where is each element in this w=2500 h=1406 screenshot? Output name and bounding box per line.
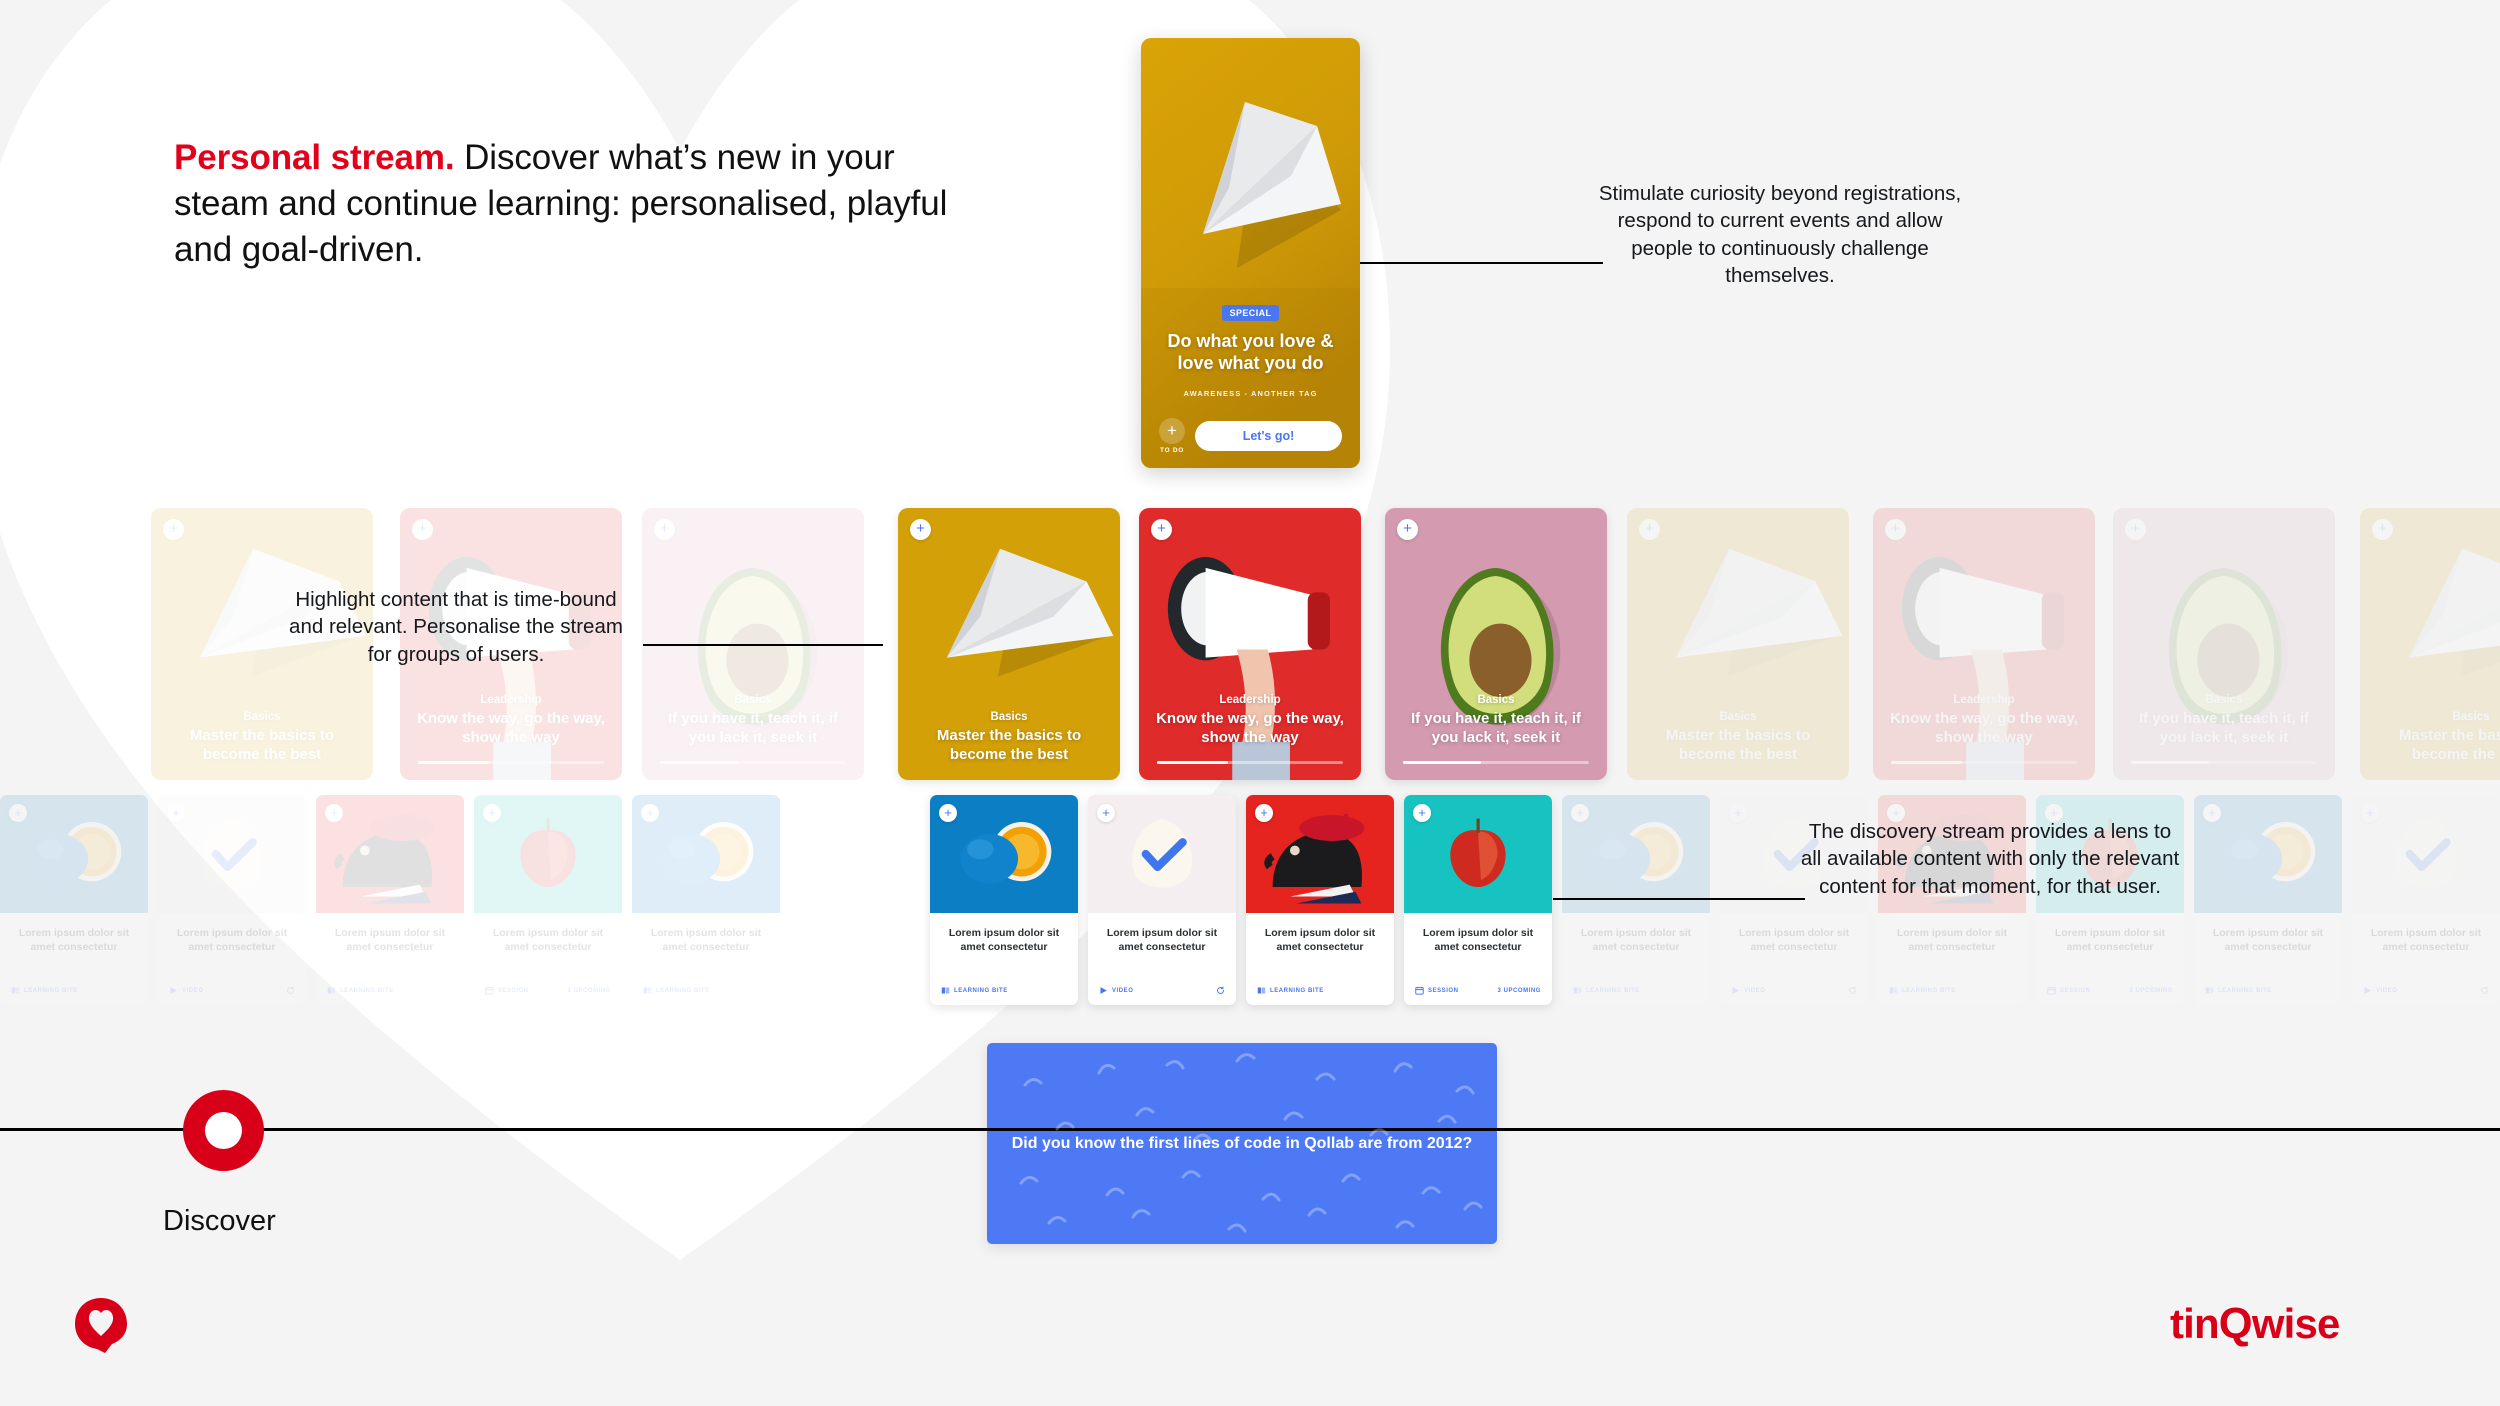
progress-bar [1891, 761, 2077, 764]
discovery-card-type-label: LEARNING BITE [2218, 988, 2272, 994]
book-icon [1573, 986, 1582, 995]
topic-card-category: Basics [2374, 711, 2500, 723]
add-plus-icon[interactable]: + [939, 804, 957, 822]
topic-card-title: If you have it, teach it, if you lack it… [1399, 710, 1593, 747]
discovery-card-type-label: LEARNING BITE [656, 988, 710, 994]
add-plus-icon[interactable]: + [1639, 519, 1660, 540]
discovery-card-title: Lorem ipsum dolor sit amet consectetur [643, 927, 769, 955]
topic-card[interactable]: + Leadership Know the way, go the way, s… [1873, 508, 2095, 780]
add-plus-icon[interactable]: + [1097, 804, 1115, 822]
book-icon [11, 986, 20, 995]
add-plus-icon[interactable]: + [2361, 804, 2379, 822]
discovery-card-type-label: SESSION [498, 988, 529, 994]
discovery-card-image: + [1404, 795, 1552, 913]
play-icon [1099, 986, 1108, 995]
topic-card-title: Know the way, go the way, show the way [1887, 710, 2081, 747]
todo-label: TO DO [1160, 447, 1184, 454]
discovery-card-type: LEARNING BITE [643, 986, 710, 995]
plus-icon[interactable]: + [1159, 418, 1185, 444]
discovery-card-title: Lorem ipsum dolor sit amet consectetur [1099, 927, 1225, 955]
discovery-card-title: Lorem ipsum dolor sit amet consectetur [1889, 927, 2015, 955]
topic-card-category: Basics [912, 711, 1106, 723]
discovery-card-type-label: VIDEO [2376, 988, 2397, 994]
lets-go-button[interactable]: Let's go! [1195, 421, 1342, 451]
leader-line-curiosity [1360, 262, 1603, 264]
discovery-card-type-label: LEARNING BITE [1902, 988, 1956, 994]
discovery-card-type: LEARNING BITE [941, 986, 1008, 995]
discovery-card[interactable]: + Lorem ipsum dolor sit amet consectetur… [2194, 795, 2342, 1005]
calendar-icon [2047, 986, 2056, 995]
discovery-card[interactable]: + Lorem ipsum dolor sit amet consectetur… [0, 795, 148, 1005]
book-icon [327, 986, 336, 995]
book-icon [2205, 986, 2214, 995]
discovery-card-extra: 3 UPCOMING [2129, 988, 2173, 994]
discovery-card-type: LEARNING BITE [1257, 986, 1324, 995]
progress-bar [660, 761, 846, 764]
annotation-highlight: Highlight content that is time-bound and… [276, 586, 636, 668]
discovery-card-type: SESSION [1415, 986, 1459, 995]
featured-card-artwork [1141, 38, 1360, 468]
add-plus-icon[interactable]: + [163, 519, 184, 540]
refresh-icon [1216, 986, 1225, 995]
featured-card-tags: AWARENESS - ANOTHER TAG [1155, 389, 1346, 398]
topic-card-category: Basics [1399, 694, 1593, 706]
play-icon [169, 986, 178, 995]
topic-card-title: If you have it, teach it, if you lack it… [2127, 710, 2321, 747]
discovery-card-image: + [2194, 795, 2342, 913]
topic-card-title: Master the basics to become the best [1641, 727, 1835, 764]
discovery-card-image: + [0, 795, 148, 913]
discovery-card-image: + [2352, 795, 2500, 913]
topic-card-category: Basics [1641, 711, 1835, 723]
add-plus-icon[interactable]: + [167, 804, 185, 822]
discovery-card[interactable]: + Lorem ipsum dolor sit amet consectetur… [1088, 795, 1236, 1005]
progress-bar [1157, 761, 1343, 764]
discovery-card-title: Lorem ipsum dolor sit amet consectetur [11, 927, 137, 955]
discovery-card-title: Lorem ipsum dolor sit amet consectetur [1573, 927, 1699, 955]
discovery-card-type-label: LEARNING BITE [954, 988, 1008, 994]
add-plus-icon[interactable]: + [412, 519, 433, 540]
add-plus-icon[interactable]: + [2125, 519, 2146, 540]
discovery-card-type: VIDEO [1099, 986, 1133, 995]
discovery-card-type: LEARNING BITE [1889, 986, 1956, 995]
add-plus-icon[interactable]: + [9, 804, 27, 822]
discovery-card-type: LEARNING BITE [2205, 986, 2272, 995]
topic-card[interactable]: + Basics Master the basics to become the… [1627, 508, 1849, 780]
add-plus-icon[interactable]: + [641, 804, 659, 822]
discovery-card-type: SESSION [2047, 986, 2091, 995]
progress-bar [418, 761, 604, 764]
add-plus-icon[interactable]: + [654, 519, 675, 540]
topic-card-category: Leadership [1887, 694, 2081, 706]
play-icon [2363, 986, 2372, 995]
progress-bar [2131, 761, 2317, 764]
add-plus-icon[interactable]: + [1397, 519, 1418, 540]
discovery-card-type-label: LEARNING BITE [1586, 988, 1640, 994]
book-icon [1889, 986, 1898, 995]
add-plus-icon[interactable]: + [1151, 519, 1172, 540]
discovery-card-title: Lorem ipsum dolor sit amet consectetur [1415, 927, 1541, 955]
topic-card[interactable]: + Basics If you have it, teach it, if yo… [1385, 508, 1607, 780]
discovery-card[interactable]: + Lorem ipsum dolor sit amet consectetur… [158, 795, 306, 1005]
discovery-card-type-label: SESSION [2060, 988, 2091, 994]
discovery-card-title: Lorem ipsum dolor sit amet consectetur [2047, 927, 2173, 955]
discovery-card-image: + [1088, 795, 1236, 913]
discovery-card-type-label: VIDEO [1744, 988, 1765, 994]
book-icon [643, 986, 652, 995]
topic-card-category: Leadership [1153, 694, 1347, 706]
discovery-card-title: Lorem ipsum dolor sit amet consectetur [1731, 927, 1857, 955]
discovery-card[interactable]: + Lorem ipsum dolor sit amet consectetur… [2352, 795, 2500, 1005]
tinqwise-logo: tinQwise [2170, 1300, 2412, 1350]
progress-bar [1403, 761, 1589, 764]
discovery-card-type: VIDEO [2363, 986, 2397, 995]
add-to-todo-control[interactable]: + TO DO [1159, 418, 1185, 454]
discovery-card[interactable]: + Lorem ipsum dolor sit amet consectetur… [1246, 795, 1394, 1005]
discovery-card-type: SESSION [485, 986, 529, 995]
topic-card-category: Leadership [414, 694, 608, 706]
leader-line-highlight [643, 644, 883, 646]
headline-highlight: Personal stream. [174, 138, 455, 177]
discovery-card-image: + [474, 795, 622, 913]
add-plus-icon[interactable]: + [910, 519, 931, 540]
topic-card[interactable]: + Basics Master the basics to become the… [2360, 508, 2500, 780]
topic-card-title: Master the basics to become the best [165, 727, 359, 764]
discovery-card-title: Lorem ipsum dolor sit amet consectetur [485, 927, 611, 955]
timeline-label-discover: Discover [163, 1205, 276, 1238]
discovery-card-image: + [158, 795, 306, 913]
discovery-card-title: Lorem ipsum dolor sit amet consectetur [941, 927, 1067, 955]
timeline-marker-discover[interactable] [183, 1090, 264, 1171]
play-icon [1731, 986, 1740, 995]
discovery-card-image: + [1246, 795, 1394, 913]
add-plus-icon[interactable]: + [483, 804, 501, 822]
book-icon [941, 986, 950, 995]
add-plus-icon[interactable]: + [1885, 519, 1906, 540]
add-plus-icon[interactable]: + [325, 804, 343, 822]
discovery-card-type-label: SESSION [1428, 988, 1459, 994]
refresh-icon [2480, 986, 2489, 995]
annotation-curiosity: Stimulate curiosity beyond registrations… [1590, 180, 1970, 289]
discovery-card-type: LEARNING BITE [1573, 986, 1640, 995]
discovery-card-title: Lorem ipsum dolor sit amet consectetur [169, 927, 295, 955]
discovery-card-title: Lorem ipsum dolor sit amet consectetur [1257, 927, 1383, 955]
calendar-icon [485, 986, 494, 995]
annotation-discovery: The discovery stream provides a lens to … [1800, 818, 2180, 900]
discovery-card-type-label: VIDEO [1112, 988, 1133, 994]
discovery-card-type-label: LEARNING BITE [24, 988, 78, 994]
leader-line-discovery [1553, 898, 1805, 900]
discovery-card[interactable]: + Lorem ipsum dolor sit amet consectetur… [474, 795, 622, 1005]
discovery-card-type-label: LEARNING BITE [1270, 988, 1324, 994]
discovery-card-extra: 3 UPCOMING [567, 988, 611, 994]
discovery-card-type: LEARNING BITE [327, 986, 394, 995]
discovery-card-image: + [930, 795, 1078, 913]
calendar-icon [1415, 986, 1424, 995]
add-plus-icon[interactable]: + [2203, 804, 2221, 822]
did-you-know-text: Did you know the first lines of code in … [1012, 1132, 1473, 1155]
topic-card[interactable]: + Leadership Know the way, go the way, s… [1139, 508, 1361, 780]
slide-canvas: Personal stream. Discover what’s new in … [0, 0, 2500, 1406]
topic-card-category: Basics [2127, 694, 2321, 706]
svg-text:tinQwise: tinQwise [2170, 1300, 2340, 1348]
topic-card[interactable]: + Basics If you have it, teach it, if yo… [2113, 508, 2335, 780]
discovery-card-title: Lorem ipsum dolor sit amet consectetur [327, 927, 453, 955]
discovery-card[interactable]: + Lorem ipsum dolor sit amet consectetur… [930, 795, 1078, 1005]
discovery-card[interactable]: + Lorem ipsum dolor sit amet consectetur… [1404, 795, 1552, 1005]
did-you-know-banner: Did you know the first lines of code in … [987, 1043, 1497, 1244]
discovery-card-type: LEARNING BITE [11, 986, 78, 995]
discovery-card-extra: 3 UPCOMING [1497, 988, 1541, 994]
topic-card-title: Master the basics to become the best [912, 727, 1106, 764]
featured-card[interactable]: SPECIAL Do what you love & love what you… [1141, 38, 1360, 468]
qollab-logo [72, 1296, 130, 1354]
discovery-card-type-label: VIDEO [182, 988, 203, 994]
featured-card-title: Do what you love & love what you do [1155, 330, 1346, 375]
discovery-card-type-label: LEARNING BITE [340, 988, 394, 994]
discovery-card-type: VIDEO [169, 986, 203, 995]
topic-card-title: Know the way, go the way, show the way [1153, 710, 1347, 747]
page-title: Personal stream. Discover what’s new in … [174, 135, 974, 273]
topic-card-title: If you have it, teach it, if you lack it… [656, 710, 850, 747]
discovery-card[interactable]: + Lorem ipsum dolor sit amet consectetur… [1562, 795, 1710, 1005]
discovery-card-title: Lorem ipsum dolor sit amet consectetur [2363, 927, 2489, 955]
book-icon [1257, 986, 1266, 995]
add-plus-icon[interactable]: + [1413, 804, 1431, 822]
topic-card-category: Basics [656, 694, 850, 706]
topic-card[interactable]: + Basics Master the basics to become the… [898, 508, 1120, 780]
discovery-card-type: VIDEO [1731, 986, 1765, 995]
discovery-card-image: + [632, 795, 780, 913]
add-plus-icon[interactable]: + [1571, 804, 1589, 822]
discovery-card-title: Lorem ipsum dolor sit amet consectetur [2205, 927, 2331, 955]
discovery-card-image: + [1562, 795, 1710, 913]
topic-card-title: Know the way, go the way, show the way [414, 710, 608, 747]
discovery-card[interactable]: + Lorem ipsum dolor sit amet consectetur… [316, 795, 464, 1005]
topic-card-title: Master the basics to become the best [2374, 727, 2500, 764]
topic-card-category: Basics [165, 711, 359, 723]
discovery-card-image: + [316, 795, 464, 913]
refresh-icon [1848, 986, 1857, 995]
add-plus-icon[interactable]: + [1255, 804, 1273, 822]
refresh-icon [286, 986, 295, 995]
add-plus-icon[interactable]: + [2372, 519, 2393, 540]
discovery-card[interactable]: + Lorem ipsum dolor sit amet consectetur… [632, 795, 780, 1005]
add-plus-icon[interactable]: + [1729, 804, 1747, 822]
special-badge: SPECIAL [1222, 305, 1280, 321]
